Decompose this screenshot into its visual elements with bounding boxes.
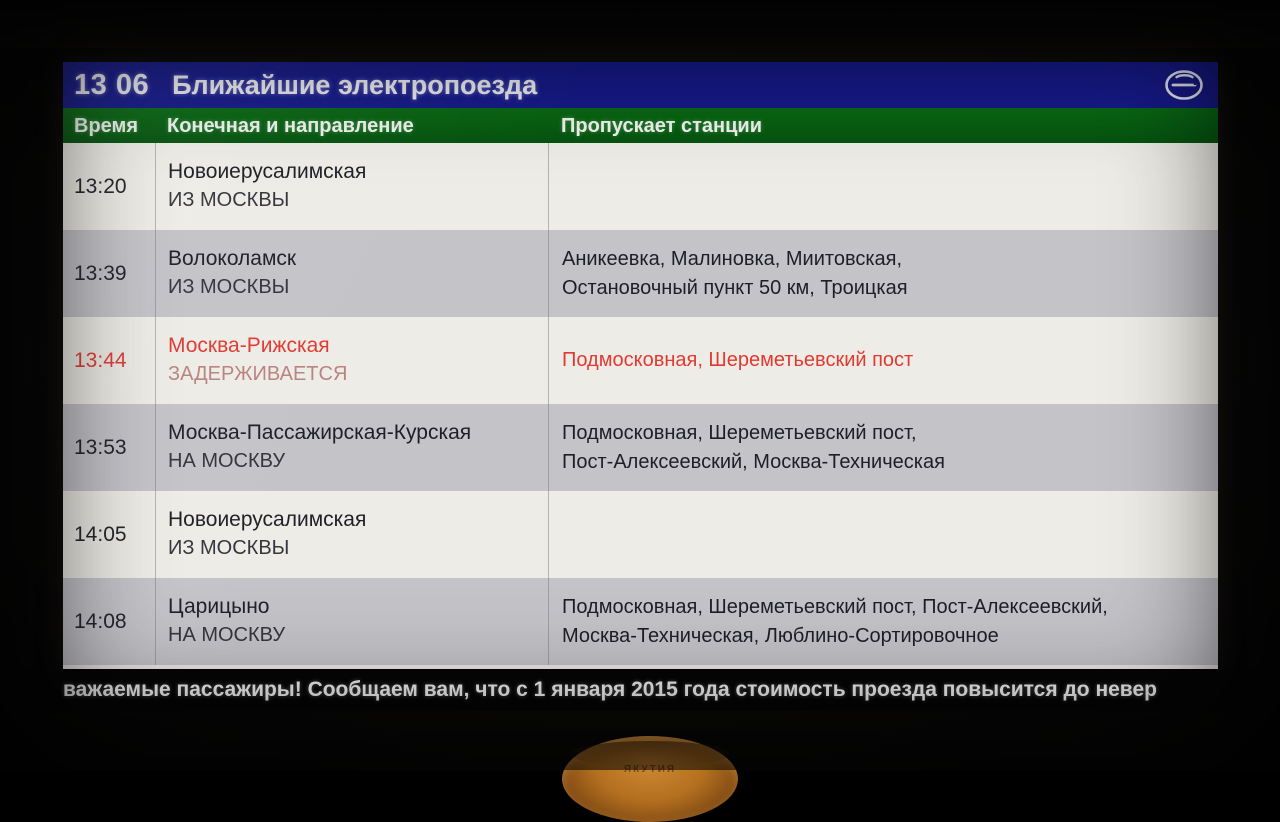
column-header-destination: Конечная и направление xyxy=(155,116,548,136)
cell-skipped-stations: Подмосковная, Шереметьевский пост, Пост-… xyxy=(548,578,1218,665)
skipped-stations-line-2: Москва-Техническая, Люблино-Сортировочно… xyxy=(562,622,1210,650)
page-title: Ближайшие электропоезда xyxy=(172,72,537,99)
cell-time: 14:08 xyxy=(63,578,155,665)
cell-destination: Москва-РижскаяЗАДЕРЖИВАЕТСЯ xyxy=(155,317,548,404)
clock: 13 06 xyxy=(74,71,149,100)
destination-direction: ИЗ МОСКВЫ xyxy=(168,274,548,302)
cell-destination: НовоиерусалимскаяИЗ МОСКВЫ xyxy=(155,491,548,578)
table-row: 14:05НовоиерусалимскаяИЗ МОСКВЫ xyxy=(63,491,1218,578)
destination-name: Волоколамск xyxy=(168,245,548,274)
destination-name: Царицыно xyxy=(168,593,548,622)
cell-time: 13:44 xyxy=(63,317,155,404)
cell-destination: НовоиерусалимскаяИЗ МОСКВЫ xyxy=(155,143,548,230)
cell-destination: Москва-Пассажирская-КурскаяНА МОСКВУ xyxy=(155,404,548,491)
departure-board-screen: 13 06 Ближайшие электропоезда Время Коне… xyxy=(63,62,1218,669)
ticker-message: важаемые пассажиры! Сообщаем вам, что с … xyxy=(0,678,1157,702)
cell-skipped-stations xyxy=(548,491,1218,578)
decorative-wooden-plate: ЯКУТИЯ xyxy=(562,736,738,822)
cell-skipped-stations: Подмосковная, Шереметьевский пост xyxy=(548,317,1218,404)
table-row: 14:08ЦарицыноНА МОСКВУПодмосковная, Шере… xyxy=(63,578,1218,665)
skipped-stations-line-2: Остановочный пункт 50 км, Троицкая xyxy=(562,274,1210,302)
skipped-stations-line-2: Пост-Алексеевский, Москва-Техническая xyxy=(562,448,1210,476)
destination-name: Новоиерусалимская xyxy=(168,506,548,535)
destination-name: Москва-Рижская xyxy=(168,332,548,361)
table-row: 13:39ВолоколамскИЗ МОСКВЫАникеевка, Мали… xyxy=(63,230,1218,317)
cell-time: 13:39 xyxy=(63,230,155,317)
monitor-bezel xyxy=(0,0,1280,48)
cell-skipped-stations xyxy=(548,143,1218,230)
table-row: 13:44Москва-РижскаяЗАДЕРЖИВАЕТСЯПодмоско… xyxy=(63,317,1218,404)
cell-skipped-stations: Подмосковная, Шереметьевский пост,Пост-А… xyxy=(548,404,1218,491)
column-header-time: Время xyxy=(63,116,155,136)
board-title-bar: 13 06 Ближайшие электропоезда xyxy=(63,62,1218,108)
table-header-row: Время Конечная и направление Пропускает … xyxy=(63,108,1218,143)
table-row: 13:20НовоиерусалимскаяИЗ МОСКВЫ xyxy=(63,143,1218,230)
destination-direction: ИЗ МОСКВЫ xyxy=(168,187,548,215)
column-header-skipped: Пропускает станции xyxy=(548,116,1218,136)
cell-time: 14:05 xyxy=(63,491,155,578)
cell-time: 13:20 xyxy=(63,143,155,230)
destination-direction: ИЗ МОСКВЫ xyxy=(168,535,548,563)
destination-name: Москва-Пассажирская-Курская xyxy=(168,419,548,448)
table-row: 13:53Москва-Пассажирская-КурскаяНА МОСКВ… xyxy=(63,404,1218,491)
rzd-circle-e-logo-icon xyxy=(1164,68,1204,102)
destination-name: Новоиерусалимская xyxy=(168,158,548,187)
skipped-stations-line-1: Подмосковная, Шереметьевский пост xyxy=(562,346,1210,374)
skipped-stations-line-1: Аникеевка, Малиновка, Миитовская, xyxy=(562,245,1210,273)
departures-table-body: 13:20НовоиерусалимскаяИЗ МОСКВЫ13:39Воло… xyxy=(63,143,1218,669)
cell-destination: ВолоколамскИЗ МОСКВЫ xyxy=(155,230,548,317)
skipped-stations-line-1: Подмосковная, Шереметьевский пост, Пост-… xyxy=(562,593,1210,621)
cell-time: 13:53 xyxy=(63,404,155,491)
cell-destination: ЦарицыноНА МОСКВУ xyxy=(155,578,548,665)
destination-direction: НА МОСКВУ xyxy=(168,622,548,650)
cell-skipped-stations: Аникеевка, Малиновка, Миитовская,Останов… xyxy=(548,230,1218,317)
skipped-stations-line-1: Подмосковная, Шереметьевский пост, xyxy=(562,419,1210,447)
ticker-bar: важаемые пассажиры! Сообщаем вам, что с … xyxy=(0,669,1280,711)
destination-direction: ЗАДЕРЖИВАЕТСЯ xyxy=(168,361,548,389)
destination-direction: НА МОСКВУ xyxy=(168,448,548,476)
